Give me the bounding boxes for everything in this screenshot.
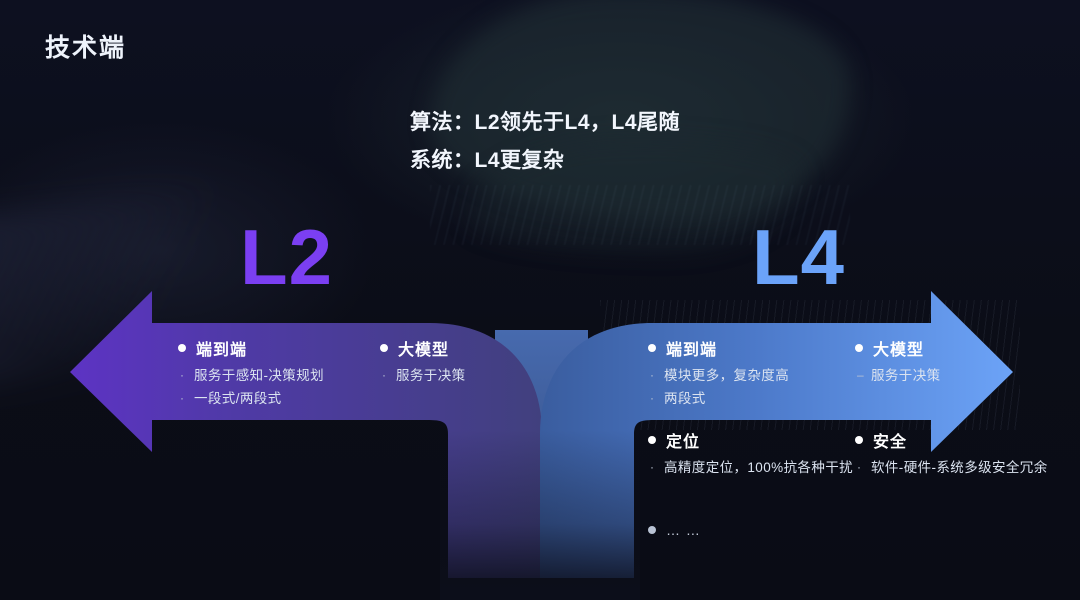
bullet-marker-icon: · bbox=[178, 388, 194, 409]
l2-heading-large-model: 大模型 bbox=[380, 336, 466, 360]
list-item-text: 模块更多，复杂度高 bbox=[664, 365, 789, 386]
l2-heading-end-to-end: 端到端 bbox=[178, 336, 324, 360]
heading-text: … … bbox=[666, 522, 701, 538]
list-item: · 服务于决策 bbox=[380, 365, 466, 386]
list-item-text: 两段式 bbox=[664, 388, 706, 409]
list-item: · 软件-硬件-系统多级安全冗余 bbox=[855, 457, 1048, 478]
list-item-text: 服务于决策 bbox=[396, 365, 466, 386]
l4-heading-safety: 安全 bbox=[855, 428, 1048, 452]
list-item-text: 服务于感知-决策规划 bbox=[194, 365, 324, 386]
list-item: · 高精度定位，100%抗各种干扰 bbox=[648, 457, 853, 478]
l4-heading-positioning: 定位 bbox=[648, 428, 853, 452]
bullet-dot-icon bbox=[648, 436, 656, 444]
list-item-text: 软件-硬件-系统多级安全冗余 bbox=[871, 457, 1048, 478]
bullet-marker-icon: · bbox=[855, 457, 871, 478]
list-item: – 服务于决策 bbox=[855, 365, 941, 386]
list-item: · 两段式 bbox=[648, 388, 789, 409]
l4-group-more: … … bbox=[648, 522, 701, 543]
l4-heading-end-to-end: 端到端 bbox=[648, 336, 789, 360]
slide-canvas: 技术端 算法：L2领先于L4，L4尾随 系统：L4更复杂 L2 L4 bbox=[0, 0, 1080, 600]
heading-text: 定位 bbox=[666, 428, 700, 452]
bullet-dot-icon bbox=[178, 344, 186, 352]
l4-group-safety: 安全 · 软件-硬件-系统多级安全冗余 bbox=[855, 428, 1048, 480]
list-item-text: 一段式/两段式 bbox=[194, 388, 282, 409]
heading-text: 大模型 bbox=[398, 336, 449, 360]
heading-text: 安全 bbox=[873, 428, 907, 452]
bullet-dot-icon bbox=[855, 344, 863, 352]
l4-heading-more: … … bbox=[648, 522, 701, 538]
list-item: · 模块更多，复杂度高 bbox=[648, 365, 789, 386]
list-item: · 一段式/两段式 bbox=[178, 388, 324, 409]
bullet-marker-icon: · bbox=[648, 457, 664, 478]
bullet-marker-icon: – bbox=[855, 365, 871, 386]
l4-group-positioning: 定位 · 高精度定位，100%抗各种干扰 bbox=[648, 428, 853, 480]
heading-text: 大模型 bbox=[873, 336, 924, 360]
bullet-marker-icon: · bbox=[648, 388, 664, 409]
list-item: · 服务于感知-决策规划 bbox=[178, 365, 324, 386]
bullet-dot-icon bbox=[648, 526, 656, 534]
bullet-marker-icon: · bbox=[648, 365, 664, 386]
bullet-marker-icon: · bbox=[178, 365, 194, 386]
l4-group-end-to-end: 端到端 · 模块更多，复杂度高 · 两段式 bbox=[648, 336, 789, 411]
list-item-text: 服务于决策 bbox=[871, 365, 941, 386]
arrow-diagram bbox=[0, 0, 1080, 600]
bullet-marker-icon: · bbox=[380, 365, 396, 386]
l4-heading-large-model: 大模型 bbox=[855, 336, 941, 360]
bullet-dot-icon bbox=[380, 344, 388, 352]
l2-group-large-model: 大模型 · 服务于决策 bbox=[380, 336, 466, 388]
list-item-text: 高精度定位，100%抗各种干扰 bbox=[664, 457, 853, 478]
l4-group-large-model: 大模型 – 服务于决策 bbox=[855, 336, 941, 388]
bullet-dot-icon bbox=[648, 344, 656, 352]
bullet-dot-icon bbox=[855, 436, 863, 444]
heading-text: 端到端 bbox=[666, 336, 717, 360]
l2-group-end-to-end: 端到端 · 服务于感知-决策规划 · 一段式/两段式 bbox=[178, 336, 324, 411]
heading-text: 端到端 bbox=[196, 336, 247, 360]
